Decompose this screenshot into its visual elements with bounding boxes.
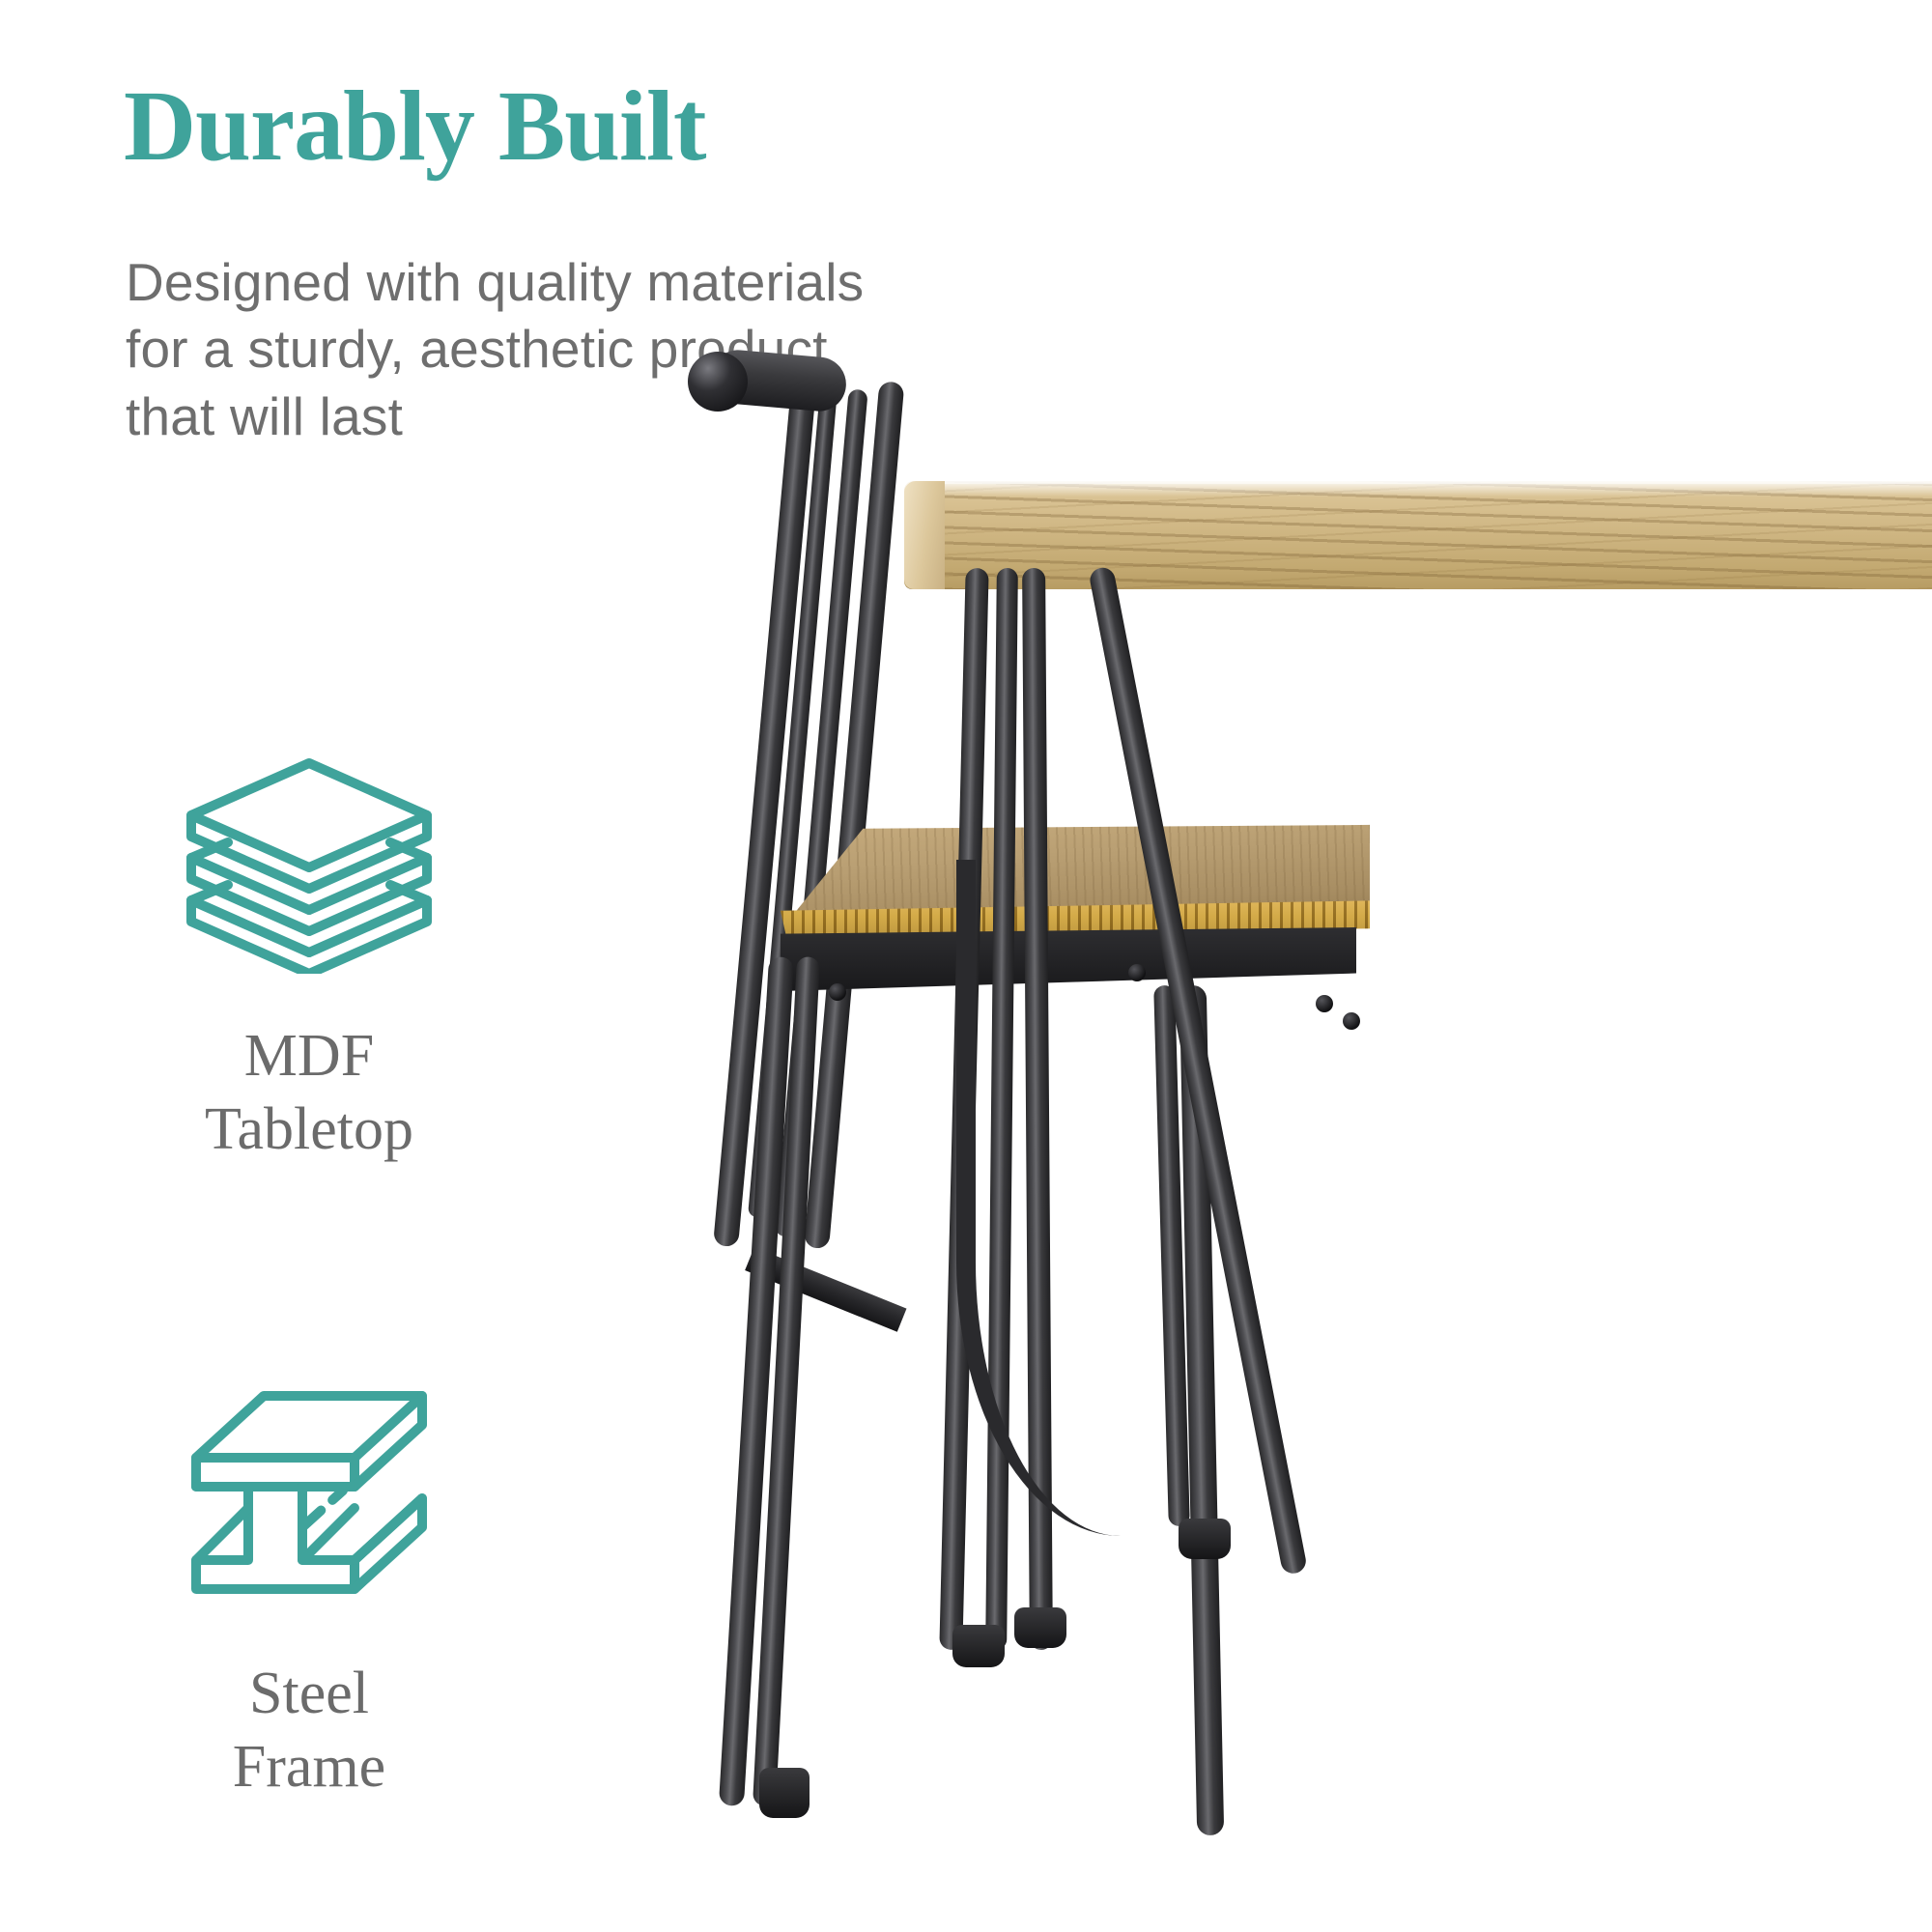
product-photo [667,319,1932,1932]
table-top-highlight [904,481,1932,497]
feature-steel-label: Steel Frame [97,1658,522,1804]
feature-mdf-label: MDF Tabletop [97,1020,522,1166]
table-foot-right [1014,1607,1066,1648]
chair-foot-front-right [1179,1519,1231,1559]
layers-stack-icon [97,753,522,976]
feature-mdf-label-line-1: MDF [97,1020,522,1094]
page-title: Durably Built [124,75,705,178]
chair-side-screw [1316,995,1333,1012]
feature-steel-label-line-1: Steel [97,1658,522,1731]
feature-mdf-label-line-2: Tabletop [97,1094,522,1167]
chair-apron-screw-right [1128,964,1146,981]
feature-steel-frame: Steel Frame [97,1391,522,1804]
marketing-banner: Durably Built Designed with quality mate… [0,0,1932,1932]
i-beam-icon [97,1391,522,1613]
chair-side-screw-2 [1343,1012,1360,1030]
table-top-left-cap [904,481,945,589]
feature-mdf-tabletop: MDF Tabletop [97,753,522,1166]
chair-apron-screw-left [829,983,846,1001]
table-top [904,481,1932,589]
chair-foot-rear [759,1768,810,1818]
table-foot-left [952,1625,1005,1667]
table-leg-curved-brace [956,860,1121,1536]
chair-back-ball-finial [688,352,748,412]
feature-steel-label-line-2: Frame [97,1731,522,1804]
subtitle-line-1: Designed with quality materials [126,249,1053,316]
